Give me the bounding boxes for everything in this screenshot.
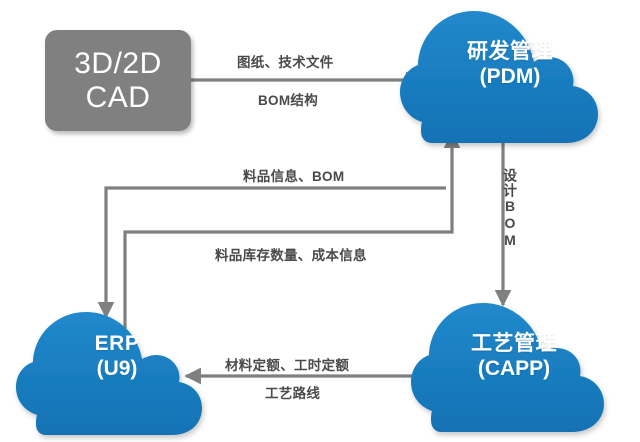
edge-label-cad-to-pdm-top: 图纸、技术文件 [237,51,334,71]
connector-erp-to-pdm-lower [125,133,452,330]
edge-label-capp-to-erp-bottom: 工艺路线 [265,382,320,402]
node-erp-cloud[interactable] [16,312,202,435]
edge-label-cad-to-pdm-bottom: BOM结构 [258,89,318,109]
node-pdm-cloud[interactable] [400,11,598,143]
edge-label-capp-to-erp-top: 材料定额、工时定额 [225,354,349,374]
node-cad-box[interactable]: 3D/2D CAD [45,30,191,131]
edge-label-pdm-to-capp: 设计BOM [500,168,520,249]
node-capp-cloud[interactable] [411,303,604,432]
diagram-canvas: 3D/2D CAD 研发管理 (PDM) ERP (U9) 工艺管理 (CAPP… [0,0,640,442]
cad-label-line2: CAD [86,81,151,115]
edge-label-erp-to-pdm-lower: 料品库存数量、成本信息 [215,244,367,264]
edge-label-pdm-to-erp-upper: 料品信息、BOM [243,165,344,185]
cad-label-line1: 3D/2D [74,47,162,81]
